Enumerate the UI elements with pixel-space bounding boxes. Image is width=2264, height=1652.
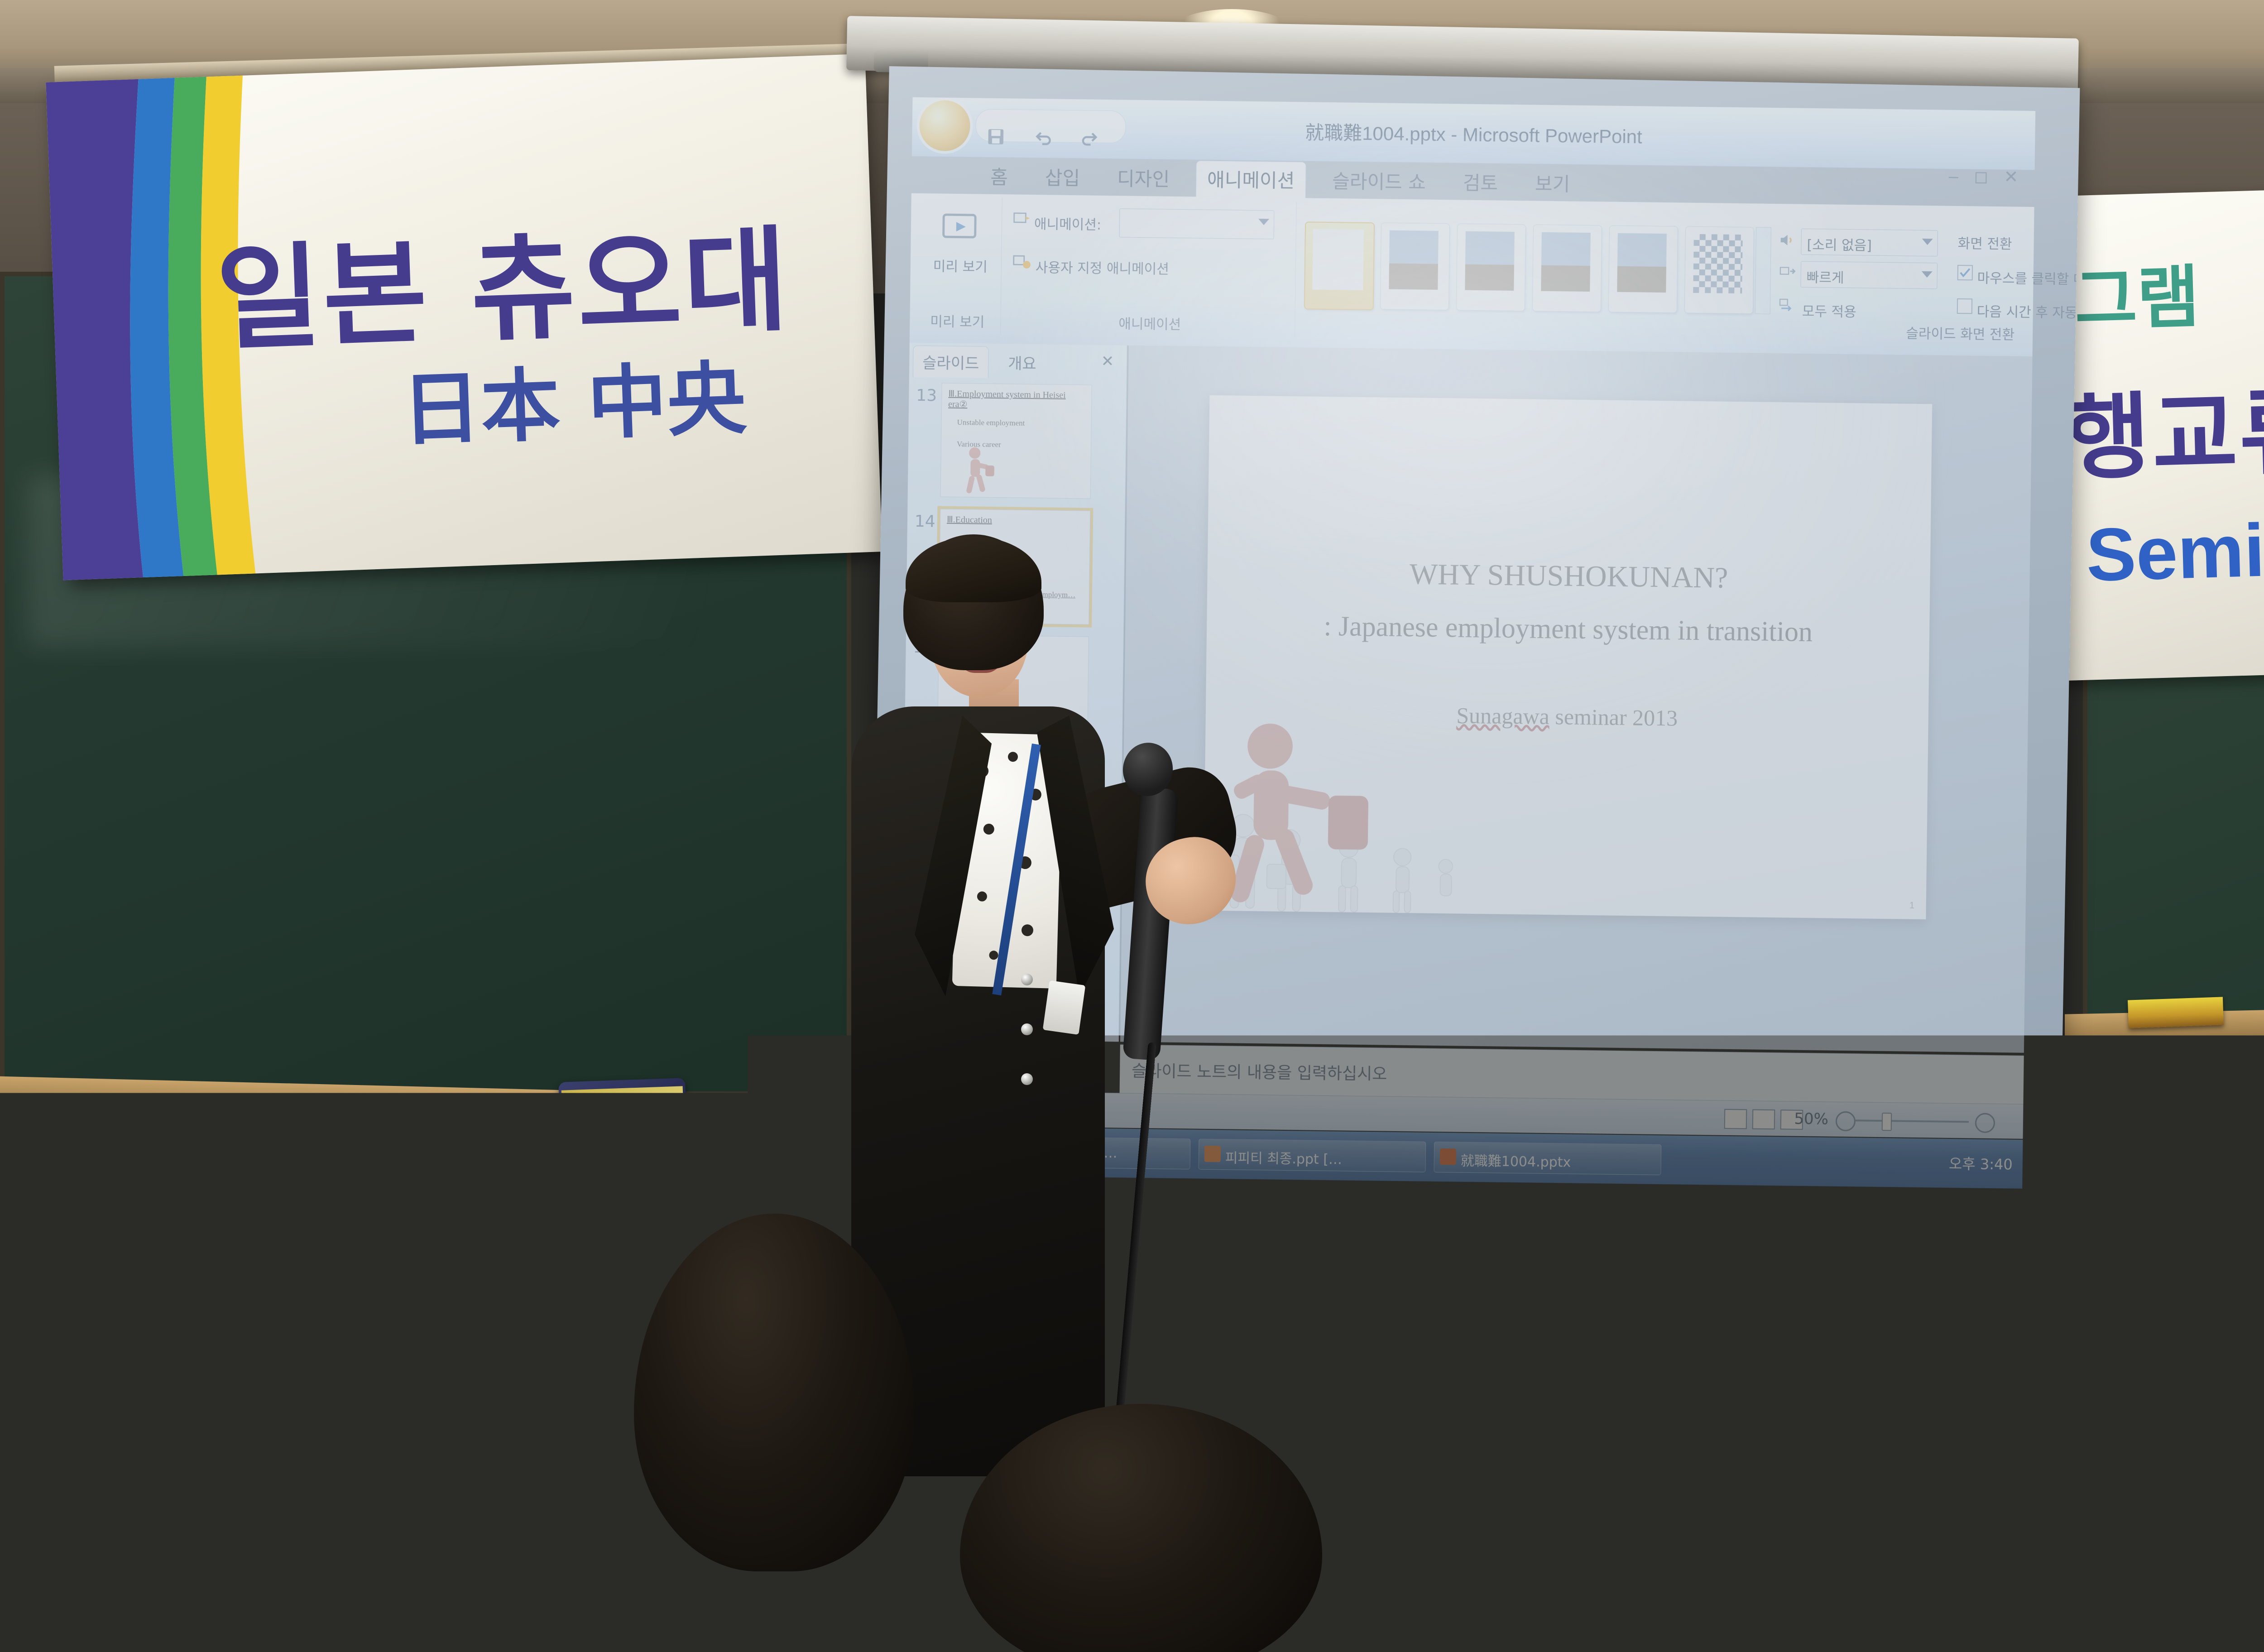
- seminar-room-scene: BOARD ERASER 일본 츄오대 日本 中央 그램 행교류 세미나 Sem…: [0, 0, 2264, 1652]
- advance-slide-header: 화면 전환: [1957, 232, 2012, 253]
- taskbar-item-label: 就職難1004.pptx: [1461, 1150, 1571, 1171]
- water-bottle[interactable]: ICIS: [1553, 1463, 1630, 1652]
- zoom-slider-handle[interactable]: [1882, 1113, 1892, 1131]
- monitor-stand: [234, 1113, 341, 1328]
- bottle-body: ICIS: [2219, 1491, 2264, 1652]
- transition-sound-value: [소리 없음]: [1807, 234, 1872, 255]
- water-bottle[interactable]: ICIS: [457, 1472, 539, 1652]
- slide-page-number: 1: [1909, 900, 1914, 911]
- bottle-cap: [475, 1472, 521, 1499]
- jacket-button: [1021, 974, 1033, 985]
- screen-glare-overlay: [970, 122, 1794, 590]
- jacket-button: [1021, 1073, 1033, 1085]
- taskbar-item[interactable]: 就職難1004.pptx: [1434, 1142, 1661, 1175]
- apply-to-all-button[interactable]: 모두 적용: [1802, 300, 1856, 321]
- zoom-level: 50%: [1794, 1110, 1828, 1129]
- bottle-brand-label: ICIS: [462, 1600, 534, 1616]
- speaker-id-badge: [1043, 980, 1086, 1035]
- check-icon: [1958, 266, 1972, 279]
- paper-sheet: [297, 1336, 459, 1399]
- banner-left-japanese: 日本 中央: [399, 334, 748, 461]
- preview-icon[interactable]: [940, 210, 979, 248]
- slide-number: 13: [916, 386, 937, 405]
- desktop-icon-my-computer[interactable]: 내 컴퓨터: [1425, 1192, 1477, 1211]
- bottle-brand-label: ICIS: [2219, 1591, 2264, 1607]
- transition-speed-value: 빠르게: [1806, 266, 1844, 287]
- on-mouse-click-checkbox[interactable]: [1957, 265, 1973, 280]
- on-mouse-click-label[interactable]: 마우스를 클릭할 때: [1977, 267, 2080, 288]
- slide-number: 14: [915, 512, 935, 531]
- power-outlet: [1277, 1304, 1327, 1372]
- normal-view-button[interactable]: [1724, 1109, 1747, 1129]
- zoom-out-button[interactable]: [1836, 1111, 1856, 1132]
- bottle-body: ICIS: [462, 1515, 534, 1652]
- bottle-body: ICIS: [1558, 1508, 1626, 1652]
- auto-advance-checkbox[interactable]: [1957, 298, 1972, 314]
- slide-subtitle-rest: seminar 2013: [1549, 704, 1678, 730]
- water-bottle[interactable]: ICIS: [2214, 1440, 2264, 1652]
- businessman-crowd-graphic: [1218, 622, 1482, 914]
- taskbar-item[interactable]: 피피티 최종.ppt […: [1198, 1139, 1426, 1172]
- taskbar-item-label: 피피티 최종.ppt […: [1225, 1147, 1343, 1168]
- zoom-in-button[interactable]: [1975, 1113, 1995, 1133]
- banner-right-green: 그램: [2073, 242, 2201, 344]
- powerpoint-icon: [1440, 1148, 1456, 1165]
- chevron-down-icon[interactable]: [1922, 271, 1933, 278]
- slide-sorter-view-button[interactable]: [1752, 1109, 1775, 1129]
- bottle-cap: [1570, 1463, 1613, 1491]
- zoom-slider-track[interactable]: [1856, 1119, 1969, 1123]
- board-eraser-label: BOARD ERASER: [566, 1105, 679, 1125]
- transition-sound-select[interactable]: [소리 없음]: [1801, 229, 1938, 257]
- banner-left: 일본 츄오대 日本 中央: [46, 54, 882, 580]
- chevron-down-icon[interactable]: [1922, 239, 1933, 245]
- window-control-buttons[interactable]: ‒ ◻ ✕: [1948, 166, 2024, 187]
- bottle-cap: [2233, 1440, 2264, 1472]
- auto-advance-label[interactable]: 다음 시간 후 자동 전환:: [1977, 300, 2080, 322]
- banner-right-korean: 행교류 세미나: [2063, 348, 2264, 498]
- powerpoint-icon: [1204, 1146, 1221, 1162]
- banner-right-english: Seminar: [2085, 504, 2264, 598]
- book-on-ledge: [2128, 997, 2224, 1028]
- bottle-brand-label: ICIS: [1558, 1598, 1626, 1614]
- transition-speed-select[interactable]: 빠르게: [1800, 261, 1938, 289]
- slide-notes-placeholder: 슬라이드 노트의 내용을 입력하십시오: [1132, 1058, 1387, 1085]
- jacket-button: [1021, 1023, 1033, 1035]
- blackboard-right: [2083, 625, 2264, 1042]
- board-eraser[interactable]: BOARD ERASER: [558, 1078, 687, 1133]
- system-clock: 오후 3:40: [1949, 1153, 2013, 1174]
